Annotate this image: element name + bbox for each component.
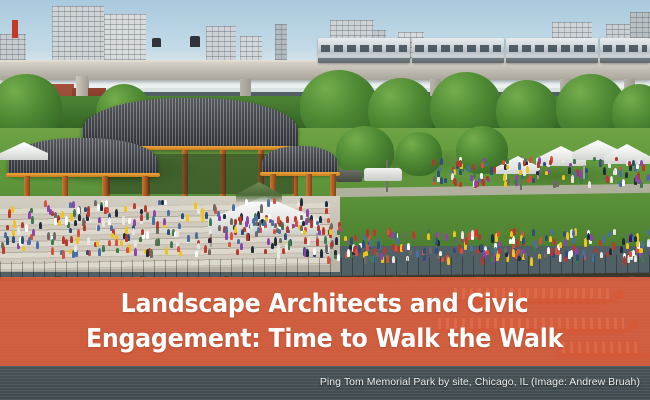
rooftop-stack — [12, 20, 18, 38]
page-title-line-2: Engagement: Time to Walk the Walk — [86, 324, 563, 354]
cta-train-car — [600, 38, 650, 63]
parked-vehicle — [336, 170, 362, 182]
title-banner: Landscape Architects and Civic Engagemen… — [0, 277, 650, 366]
cta-train-car — [412, 38, 504, 63]
tent-canopy — [0, 142, 48, 160]
page-title-line-1: Landscape Architects and Civic — [121, 289, 529, 319]
crowd-group — [230, 216, 350, 238]
crowd-group — [430, 156, 650, 190]
water-tower — [152, 38, 161, 47]
cta-train-car — [506, 38, 598, 63]
hero-image-card: Landscape Architects and Civic Engagemen… — [0, 0, 650, 400]
image-caption: Ping Tom Memorial Park by site, Chicago,… — [320, 376, 640, 388]
pagoda-wing-roof — [262, 146, 338, 174]
parked-vehicle — [364, 168, 402, 181]
event-tent — [0, 142, 48, 160]
cta-train-car — [318, 38, 410, 63]
water-tower — [190, 36, 200, 47]
page-title: Landscape Architects and Civic Engagemen… — [86, 287, 563, 357]
